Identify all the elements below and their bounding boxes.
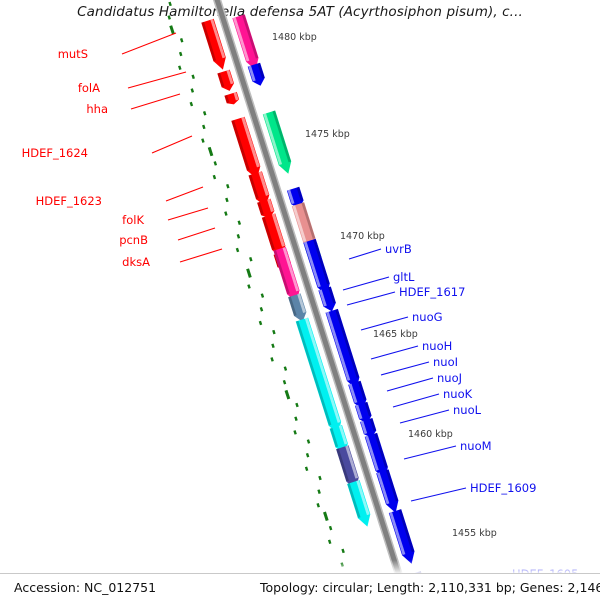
gene-feature-gene-steel[interactable] <box>288 293 306 321</box>
tick-label-3: 1465 kbp <box>373 329 418 340</box>
leader-line-uvrB <box>349 249 381 259</box>
leader-line-folA <box>128 72 186 88</box>
gene-label-nuoJ[interactable]: nuoJ <box>437 371 462 385</box>
tick-label-2: 1470 kbp <box>340 231 385 242</box>
gene-label-leader-lines-left <box>122 33 222 262</box>
tick-label-1: 1475 kbp <box>305 129 350 140</box>
genome-viewer[interactable]: Candidatus Hamiltonella defensa 5AT (Acy… <box>0 0 600 600</box>
gene-label-HDEF_1623[interactable]: HDEF_1623 <box>36 194 102 208</box>
leader-line-nuoL <box>400 410 449 423</box>
gene-label-HDEF_1609[interactable]: HDEF_1609 <box>470 481 536 495</box>
gene-features-reverse-strand[interactable] <box>201 19 402 600</box>
status-bar: Accession: NC_012751 Topology: circular;… <box>0 573 600 600</box>
gene-label-folA[interactable]: folA <box>78 81 100 95</box>
genome-summary-text: Topology: circular; Length: 2,110,331 bp… <box>260 580 600 595</box>
leader-line-nuoK <box>393 394 439 407</box>
leader-line-gltL <box>343 277 389 290</box>
leader-line-hha <box>131 94 180 109</box>
gene-label-nuoL[interactable]: nuoL <box>453 403 482 417</box>
minor-tick-marks <box>169 2 367 600</box>
gene-label-HDEF_1617[interactable]: HDEF_1617 <box>399 285 465 299</box>
leader-line-pcnB <box>178 228 215 240</box>
gene-label-nuoG[interactable]: nuoG <box>412 310 443 324</box>
leader-line-nuoM <box>404 446 456 459</box>
gene-label-nuoK[interactable]: nuoK <box>443 387 473 401</box>
gene-labels-left[interactable]: mutSfolAhhaHDEF_1624HDEF_1623folKpcnBdks… <box>22 47 151 269</box>
gene-label-hha[interactable]: hha <box>86 102 108 116</box>
gene-feature-gltL[interactable] <box>318 287 336 312</box>
gene-feature-gene-cyan-3[interactable] <box>347 480 370 527</box>
gene-feature-gene-red-2[interactable] <box>217 70 234 91</box>
gene-label-gltL[interactable]: gltL <box>393 270 415 284</box>
accession-text: Accession: NC_012751 <box>14 580 156 595</box>
gene-label-dksA[interactable]: dksA <box>122 255 150 269</box>
gene-label-uvrB[interactable]: uvrB <box>385 242 412 256</box>
leader-line-HDEF_1624 <box>152 136 192 153</box>
gene-label-mutS[interactable]: mutS <box>58 47 88 61</box>
gene-label-pcnB[interactable]: pcnB <box>119 233 148 247</box>
genome-map-canvas[interactable]: 1480 kbp1475 kbp1470 kbp1465 kbp1460 kbp… <box>0 0 600 600</box>
leader-line-folK <box>168 208 208 220</box>
leader-line-HDEF_1609 <box>411 488 466 501</box>
gene-label-nuoI[interactable]: nuoI <box>433 355 458 369</box>
leader-line-mutS <box>122 33 176 54</box>
tick-label-4: 1460 kbp <box>408 429 453 440</box>
leader-line-nuoI <box>381 362 429 375</box>
gene-features-forward-strand[interactable] <box>232 14 430 600</box>
gene-feature-gene-blue-1[interactable] <box>248 63 265 86</box>
leader-line-HDEF_1617 <box>347 292 395 305</box>
tick-label-0: 1480 kbp <box>272 32 317 43</box>
genome-backbone <box>214 0 410 600</box>
gene-label-HDEF_1624[interactable]: HDEF_1624 <box>22 146 88 160</box>
leader-line-nuoJ <box>387 378 433 391</box>
gene-label-nuoM[interactable]: nuoM <box>460 439 492 453</box>
leader-line-dksA <box>180 249 222 262</box>
gene-label-nuoH[interactable]: nuoH <box>422 339 452 353</box>
gene-feature-gene-red-3[interactable] <box>224 92 239 105</box>
leader-line-HDEF_1623 <box>166 187 203 201</box>
gene-label-folK[interactable]: folK <box>122 213 144 227</box>
leader-line-nuoH <box>371 346 418 359</box>
bottom-fade <box>0 560 600 574</box>
tick-label-5: 1455 kbp <box>452 528 497 539</box>
